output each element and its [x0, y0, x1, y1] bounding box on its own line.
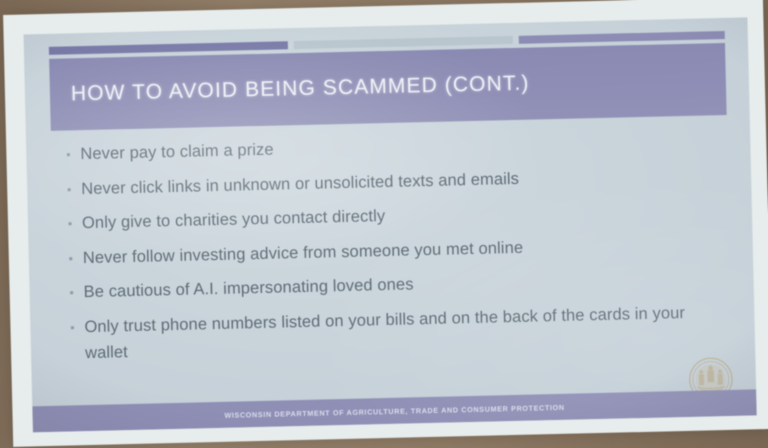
- slide-footer-bar: WISCONSIN DEPARTMENT OF AGRICULTURE, TRA…: [32, 389, 756, 432]
- top-rule-segment-left: [49, 41, 288, 55]
- presentation-slide: HOW TO AVOID BEING SCAMMED (CONT.) ▪ Nev…: [24, 17, 757, 432]
- projection-screen: HOW TO AVOID BEING SCAMMED (CONT.) ▪ Nev…: [3, 0, 768, 447]
- list-item: ▪ Be cautious of A.I. impersonating love…: [59, 264, 739, 306]
- footer-organization-text: WISCONSIN DEPARTMENT OF AGRICULTURE, TRA…: [224, 402, 564, 419]
- bullet-point-icon: ▪: [59, 279, 84, 306]
- list-item: ▪ Never follow investing advice from som…: [59, 229, 739, 271]
- list-item: ▪ Never pay to claim a prize: [56, 126, 736, 168]
- screenshot-stage: HOW TO AVOID BEING SCAMMED (CONT.) ▪ Nev…: [0, 0, 768, 448]
- slide-title-band: HOW TO AVOID BEING SCAMMED (CONT.): [49, 43, 727, 131]
- bullet-text: Only trust phone numbers listed on your …: [84, 299, 725, 366]
- bullet-text: Never follow investing advice from someo…: [83, 234, 524, 270]
- bullet-point-icon: ▪: [56, 141, 81, 168]
- bullet-point-icon: ▪: [60, 314, 85, 341]
- top-rule-segment-middle: [294, 36, 513, 49]
- bullet-point-icon: ▪: [57, 176, 82, 203]
- list-item: ▪ Never click links in unknown or unsoli…: [57, 160, 737, 202]
- projection-screen-wrapper: HOW TO AVOID BEING SCAMMED (CONT.) ▪ Nev…: [0, 0, 768, 448]
- bullet-text: Never click links in unknown or unsolici…: [81, 165, 519, 201]
- top-rule-segment-right: [519, 31, 725, 44]
- bullet-point-icon: ▪: [59, 245, 84, 272]
- bullet-point-icon: ▪: [58, 210, 83, 237]
- list-item: ▪ Only trust phone numbers listed on you…: [60, 298, 741, 366]
- slide-title: HOW TO AVOID BEING SCAMMED (CONT.): [50, 72, 530, 107]
- bullet-text: Only give to charities you contact direc…: [82, 203, 386, 236]
- bullet-list: ▪ Never pay to claim a prize ▪ Never cli…: [56, 126, 741, 375]
- list-item: ▪ Only give to charities you contact dir…: [58, 195, 738, 237]
- bullet-text: Be cautious of A.I. impersonating loved …: [83, 271, 414, 305]
- bullet-text: Never pay to claim a prize: [80, 137, 274, 168]
